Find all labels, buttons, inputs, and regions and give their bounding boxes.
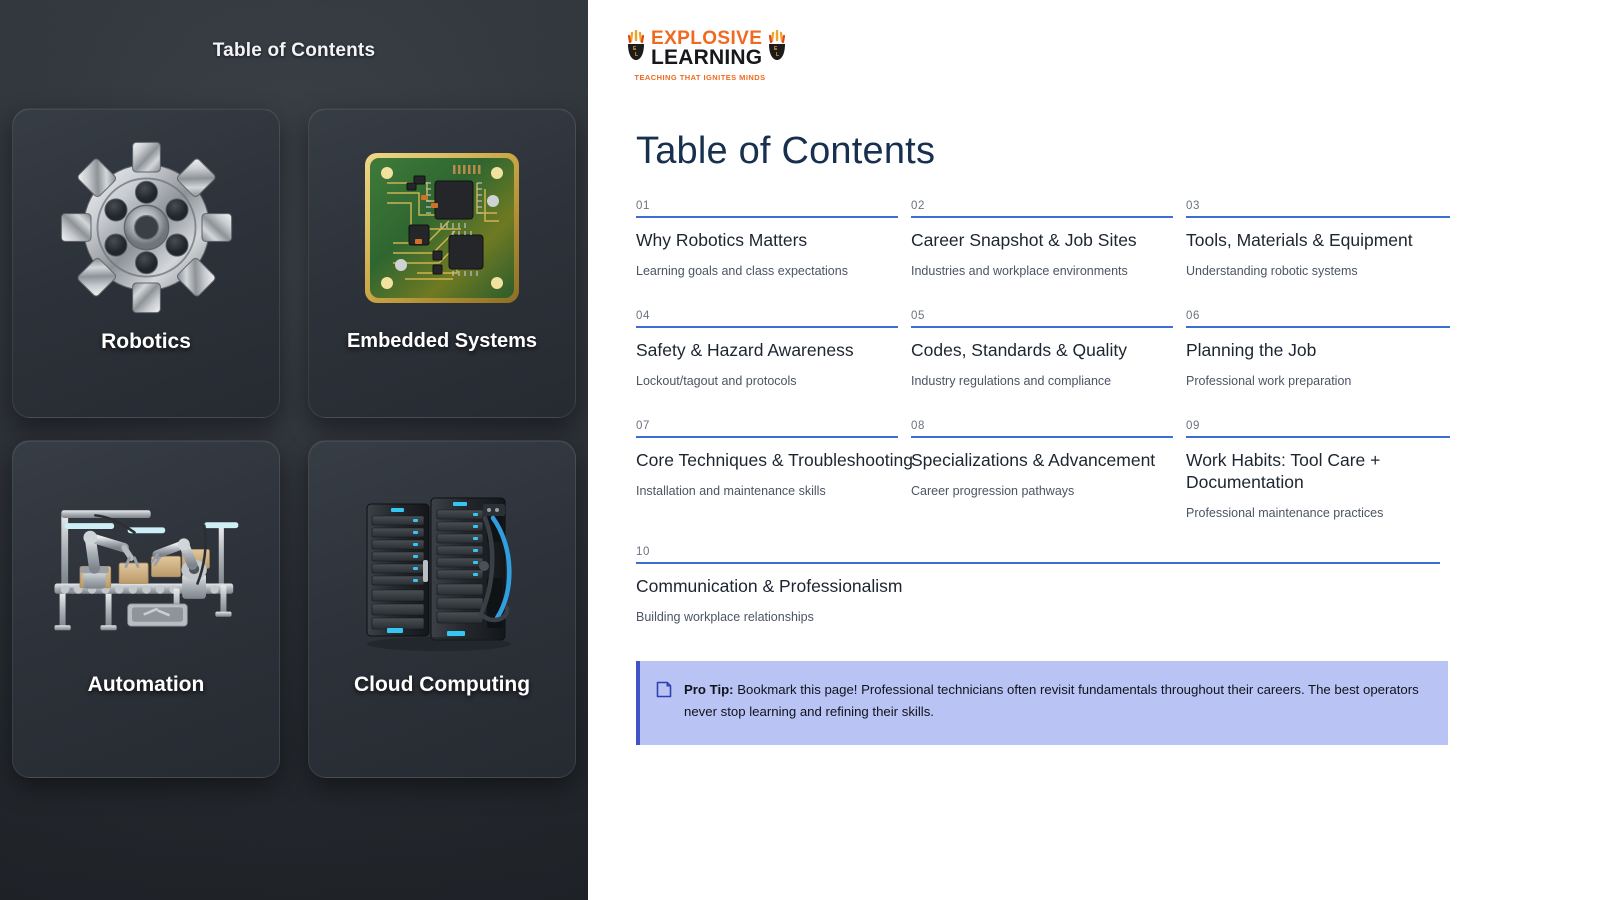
row-spacer [636, 389, 906, 420]
logo-line-1: EXPLOSIVE [651, 30, 762, 47]
topic-card-cloud-computing[interactable]: Cloud Computing [308, 440, 576, 778]
left-panel-title: Table of Contents [0, 40, 588, 62]
toc-rule [636, 216, 898, 218]
toc-entry-title: Communication & Professionalism [636, 576, 1440, 598]
toc-entry-desc: Learning goals and class expectations [636, 263, 898, 279]
toc-number: 01 [636, 200, 898, 216]
page-title: Table of Contents [636, 130, 935, 173]
toc-entry-title: Core Techniques & Troubleshooting [636, 450, 898, 472]
topic-card-label: Robotics [93, 330, 199, 354]
topic-card-label: Embedded Systems [339, 330, 545, 353]
bookmark-page-icon [656, 681, 672, 703]
toc-rule [1186, 436, 1450, 438]
flame-bomb-icon-left: E L [624, 30, 648, 67]
toc-rule [911, 326, 1173, 328]
toc-entry-desc: Installation and maintenance skills [636, 483, 898, 499]
row-spacer [1186, 389, 1458, 420]
toc-number: 10 [636, 546, 1440, 562]
toc-number: 05 [911, 310, 1173, 326]
topic-card-robotics[interactable]: Robotics [12, 108, 280, 418]
toc-grid: 01 Why Robotics Matters Learning goals a… [636, 200, 1448, 521]
toc-entry-title: Specializations & Advancement [911, 450, 1173, 472]
row-spacer [911, 389, 1181, 420]
brand-logo[interactable]: E L EXPLOSIVE LEARNING [624, 30, 776, 88]
pro-tip-body: Bookmark this page! Professional technic… [684, 682, 1419, 719]
left-visual-panel: Table of Contents [0, 0, 588, 900]
svg-text:L: L [635, 52, 638, 58]
logo-tagline: TEACHING THAT IGNITES MINDS [624, 73, 776, 82]
logo-line-2: LEARNING [651, 48, 762, 67]
row-spacer [911, 279, 1181, 310]
toc-rule [1186, 216, 1450, 218]
toc-rule [911, 216, 1173, 218]
toc-entry-10[interactable]: 10 Communication & Professionalism Build… [636, 546, 1448, 625]
row-spacer [1186, 279, 1458, 310]
toc-entry-06[interactable]: 06 Planning the Job Professional work pr… [1186, 310, 1458, 389]
toc-entry-desc: Industry regulations and compliance [911, 373, 1173, 389]
toc-entry-03[interactable]: 03 Tools, Materials & Equipment Understa… [1186, 200, 1458, 279]
toc-number: 02 [911, 200, 1173, 216]
toc-rule [911, 436, 1173, 438]
slide-root: Table of Contents [0, 0, 1600, 900]
toc-entry-title: Why Robotics Matters [636, 230, 898, 252]
circuit-board-icon [342, 135, 542, 320]
toc-rule [636, 436, 898, 438]
row-spacer [636, 279, 906, 310]
toc-rule [636, 562, 1440, 564]
toc-entry-desc: Professional work preparation [1186, 373, 1450, 389]
toc-entry-05[interactable]: 05 Codes, Standards & Quality Industry r… [911, 310, 1181, 389]
server-rack-icon [342, 463, 542, 663]
toc-entry-02[interactable]: 02 Career Snapshot & Job Sites Industrie… [911, 200, 1181, 279]
content-panel: E L EXPLOSIVE LEARNING [588, 0, 1600, 900]
toc-entry-01[interactable]: 01 Why Robotics Matters Learning goals a… [636, 200, 906, 279]
robotic-arm-conveyor-icon [46, 463, 246, 663]
flame-bomb-icon-right: E L [765, 30, 789, 67]
topic-card-grid: Robotics [12, 108, 576, 778]
toc-entry-desc: Career progression pathways [911, 483, 1173, 499]
toc-entry-08[interactable]: 08 Specializations & Advancement Career … [911, 420, 1181, 521]
topic-card-automation[interactable]: Automation [12, 440, 280, 778]
topic-card-label: Cloud Computing [346, 673, 538, 697]
toc-entry-title: Tools, Materials & Equipment [1186, 230, 1450, 252]
toc-number: 07 [636, 420, 898, 436]
svg-text:L: L [776, 52, 779, 58]
toc-entry-09[interactable]: 09 Work Habits: Tool Care + Documentatio… [1186, 420, 1458, 521]
toc-number: 04 [636, 310, 898, 326]
toc-entry-title: Planning the Job [1186, 340, 1450, 362]
toc-entry-desc: Understanding robotic systems [1186, 263, 1450, 279]
pro-tip-label: Pro Tip: [684, 682, 734, 697]
toc-entry-title: Codes, Standards & Quality [911, 340, 1173, 362]
toc-rule [1186, 326, 1450, 328]
toc-entry-04[interactable]: 04 Safety & Hazard Awareness Lockout/tag… [636, 310, 906, 389]
toc-number: 06 [1186, 310, 1450, 326]
topic-card-embedded-systems[interactable]: Embedded Systems [308, 108, 576, 418]
toc-rule [636, 326, 898, 328]
toc-entry-desc: Industries and workplace environments [911, 263, 1173, 279]
toc-entry-desc: Professional maintenance practices [1186, 505, 1450, 521]
toc-entry-desc: Building workplace relationships [636, 609, 1440, 625]
pro-tip-callout: Pro Tip: Bookmark this page! Professiona… [636, 661, 1448, 745]
toc-number: 08 [911, 420, 1173, 436]
toc-number: 09 [1186, 420, 1450, 436]
toc-entry-07[interactable]: 07 Core Techniques & Troubleshooting Ins… [636, 420, 906, 521]
toc-entry-desc: Lockout/tagout and protocols [636, 373, 898, 389]
toc-number: 03 [1186, 200, 1450, 216]
pro-tip-text: Pro Tip: Bookmark this page! Professiona… [684, 679, 1426, 723]
gear-metal-icon [46, 135, 246, 320]
toc-entry-title: Career Snapshot & Job Sites [911, 230, 1173, 252]
topic-card-label: Automation [80, 673, 213, 697]
toc-entry-title: Safety & Hazard Awareness [636, 340, 898, 362]
toc-entry-title: Work Habits: Tool Care + Documentation [1186, 450, 1450, 494]
